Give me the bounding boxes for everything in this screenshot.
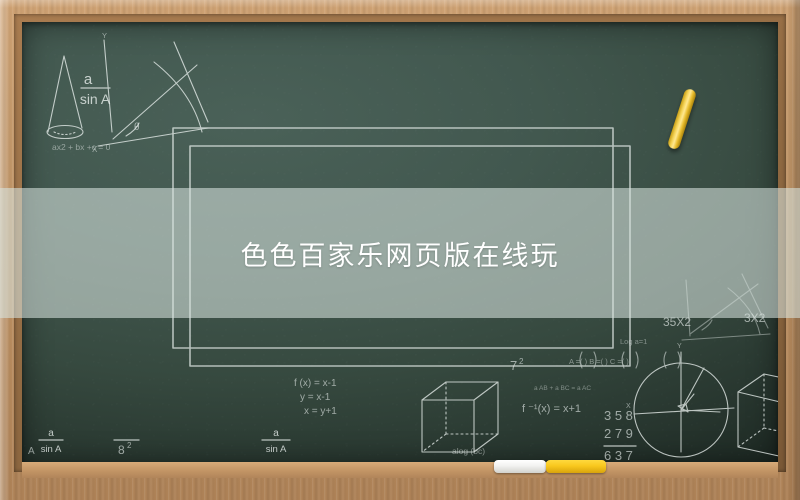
axis-label-y-text: Y (102, 31, 107, 40)
yellow-chalk-stick (546, 460, 606, 473)
cube-wireframe-left (422, 382, 498, 452)
function-x-text: x = y+1 (304, 406, 337, 417)
axis-label-x-text: X (92, 145, 98, 154)
angle-protractor-diagram-top-left (98, 40, 208, 146)
circle-axis-label-x-text: X (626, 403, 631, 410)
matrix-row-a-text: A =( ) B =( ) C =( ) (569, 357, 629, 366)
function-fx-text: f (x) = x-1 (294, 378, 337, 389)
log-a-equals-one-text: Log a=1 (620, 337, 647, 346)
addition-result-text: 6 3 7 (604, 448, 633, 463)
chalkboard-poster: a sin A ax2 + bx +c = 0 Y X θ f (x) = x-… (0, 0, 800, 500)
circle-with-axes-diagram (634, 352, 734, 457)
fraction-a-over-sinA-mid-denominator: sin A (266, 444, 287, 455)
addition-operand-2-text: 2 7 9 (604, 426, 633, 441)
seven-squared-exponent-text: 2 (519, 357, 524, 366)
eight-squared-exponent-text: 2 (127, 441, 132, 450)
log-expression-text: alog (bc) (452, 446, 485, 456)
fraction-a-over-sinA-left-numerator: a (48, 428, 54, 439)
quadratic-equation-text: ax2 + bx +c = 0 (52, 142, 111, 152)
inverse-function-text: f ⁻¹(x) = x+1 (522, 403, 581, 415)
cube-wireframe-right (738, 374, 778, 460)
seven-squared-text: 7 (510, 358, 517, 373)
title-overlay-band: 色色百家乐网页版在线玩 (0, 188, 800, 318)
addition-operand-1-text: 3 5 8 (604, 408, 633, 423)
white-chalk-stick (494, 460, 546, 473)
fraction-a-over-sinA-mid-numerator: a (273, 428, 279, 439)
angle-A-label-text: A (28, 446, 35, 457)
fraction-a-over-sinA-denominator: sin A (80, 91, 111, 107)
chalk-tray (22, 462, 778, 478)
eight-squared-text: 8 (118, 443, 125, 457)
vector-sum-text: a AB + a BC = a AC (534, 385, 591, 392)
angle-label-theta-text: θ (134, 122, 140, 133)
function-y-text: y = x-1 (300, 392, 331, 403)
page-title: 色色百家乐网页版在线玩 (241, 234, 560, 273)
circle-axis-label-y-text: Y (677, 343, 682, 350)
cone-diagram (47, 56, 83, 139)
fraction-a-over-sinA-numerator: a (84, 71, 93, 88)
fraction-a-over-sinA-left-denominator: sin A (41, 444, 62, 455)
